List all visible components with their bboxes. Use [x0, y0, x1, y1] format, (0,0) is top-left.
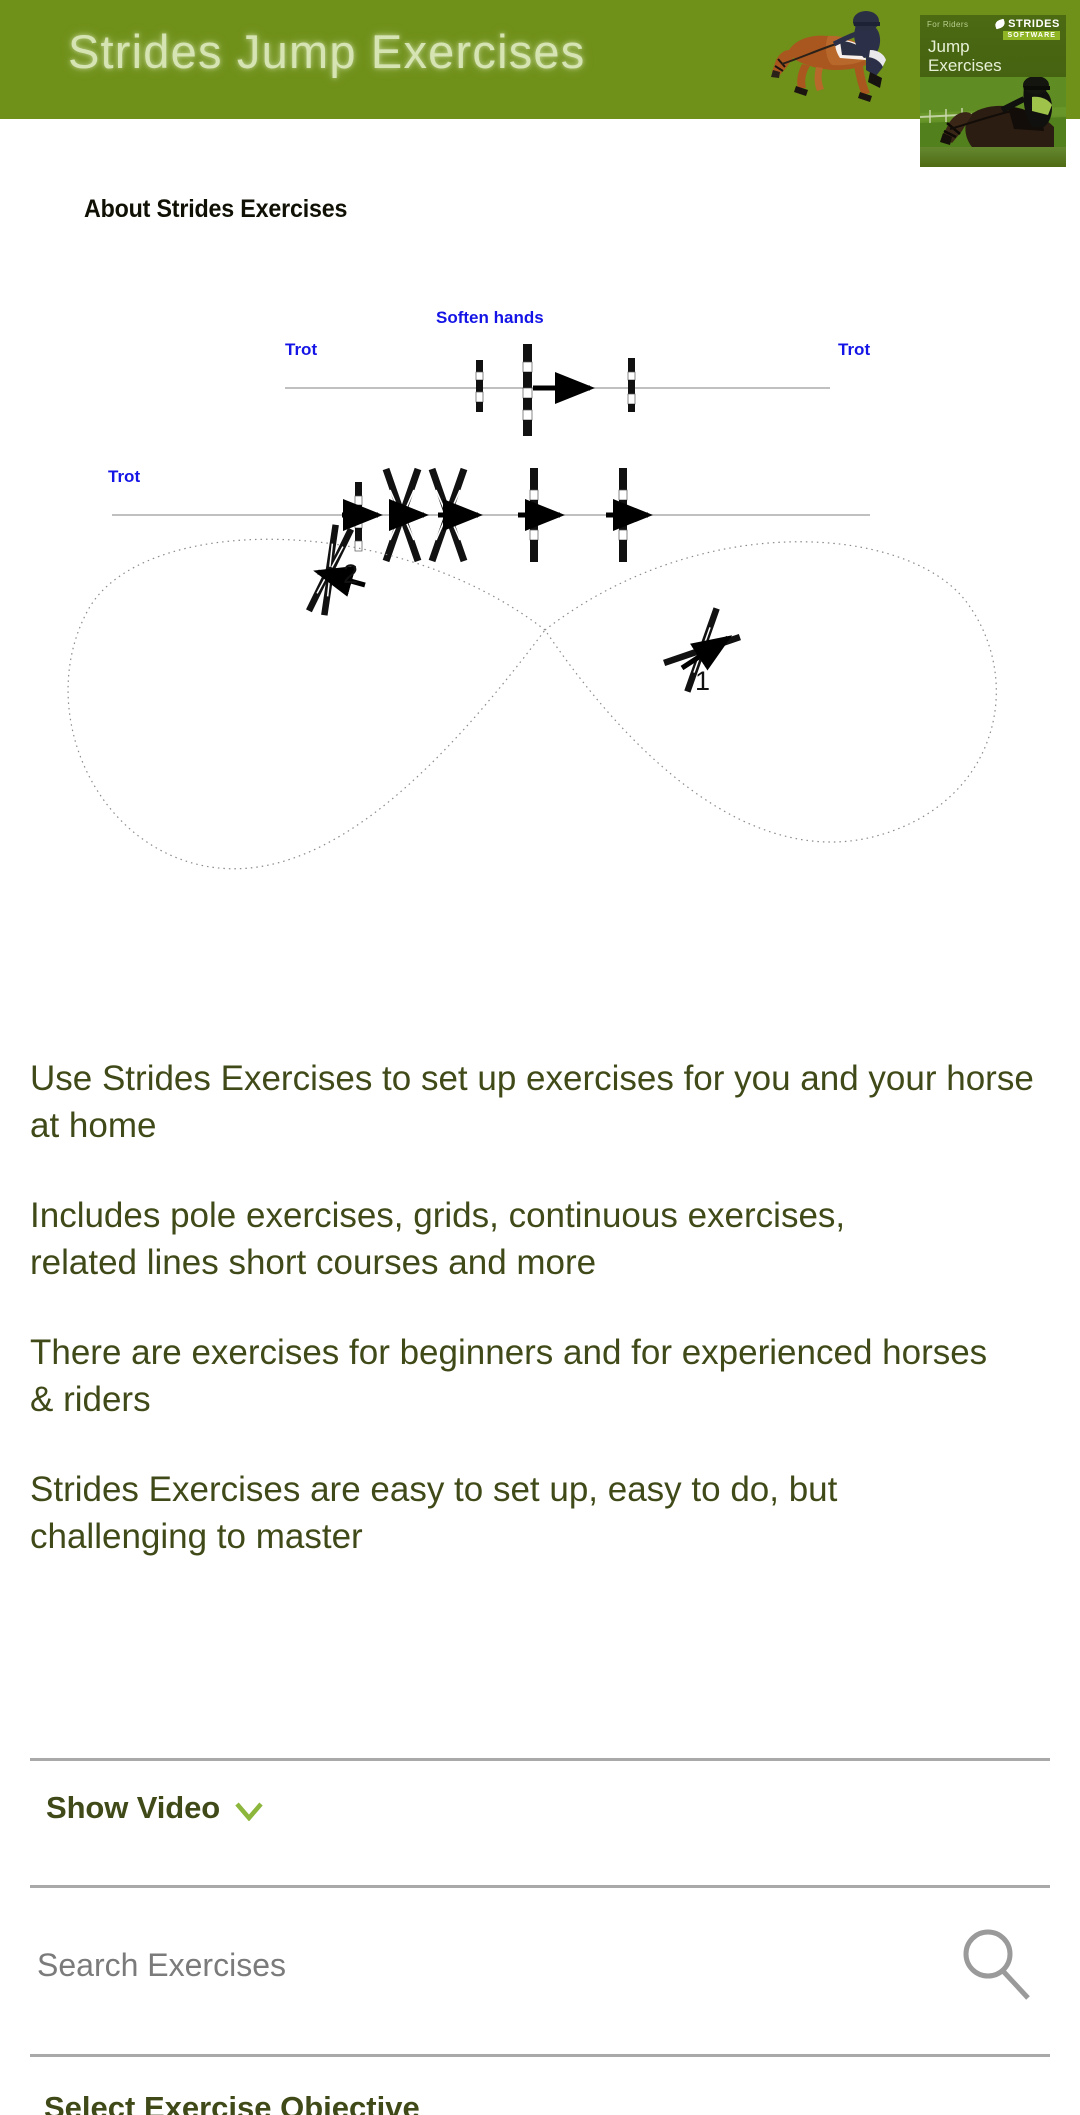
search-icon[interactable] [950, 1920, 1040, 2010]
diagram-row-1: Trot Trot Soften hands [285, 308, 870, 436]
product-box-brand-label: STRIDES [1008, 18, 1060, 30]
divider-below-show-video [30, 1885, 1050, 1888]
row1-pole-3 [628, 358, 635, 412]
row2-trot-label: Trot [108, 467, 140, 486]
product-box-product-name: Jump Exercises [928, 37, 1002, 75]
row1-pole-2 [523, 344, 532, 436]
body-paragraph-4: Strides Exercises are easy to set up, ea… [30, 1466, 930, 1560]
product-box-name-line1: Jump [928, 37, 1002, 56]
select-exercise-objective-row[interactable]: Select Exercise Objective [44, 2092, 744, 2115]
diagram-row-3-figure-eight: 2 1 [68, 524, 996, 869]
figure-eight-jump-2-label: 2 [343, 559, 358, 589]
figure-eight-left-loop [68, 539, 545, 868]
product-box-cover[interactable]: For Riders STRIDES SOFTWARE Jump Exercis… [920, 15, 1066, 167]
divider-above-show-video [30, 1758, 1050, 1761]
product-box-reflection [920, 147, 1066, 167]
strides-leaf-icon [994, 19, 1006, 30]
chevron-down-icon [234, 1801, 264, 1821]
figure-eight-jump-1-label: 1 [695, 666, 710, 696]
row1-pole-1 [476, 360, 483, 412]
horse-and-rider-jumping-photo [770, 10, 890, 102]
page-title: Strides Jump Exercises [68, 24, 585, 79]
row1-soften-hands-label: Soften hands [436, 308, 544, 327]
body-paragraph-3: There are exercises for beginners and fo… [30, 1329, 990, 1423]
about-strides-exercises-heading: About Strides Exercises [84, 195, 347, 224]
body-paragraph-1: Use Strides Exercises to set up exercise… [30, 1055, 1050, 1149]
rider-on-horse-photo [920, 77, 1066, 147]
divider-below-search [30, 2054, 1050, 2057]
row1-trot-right-label: Trot [838, 340, 870, 359]
row1-trot-left-label: Trot [285, 340, 317, 359]
about-body-copy: Use Strides Exercises to set up exercise… [30, 1055, 1060, 1603]
diagram-row-2: Trot [108, 467, 870, 562]
search-input[interactable] [30, 1947, 810, 1984]
figure-eight-right-loop [545, 542, 996, 842]
show-video-toggle[interactable]: Show Video [46, 1790, 264, 1826]
product-box-brand: STRIDES [995, 18, 1060, 30]
body-paragraph-2: Includes pole exercises, grids, continuo… [30, 1192, 960, 1286]
product-box-name-line2: Exercises [928, 56, 1002, 75]
product-box-software-badge: SOFTWARE [1003, 31, 1060, 40]
search-exercises-row[interactable] [30, 1930, 1050, 2000]
strides-exercises-illustration: Trot Trot Soften hands [0, 300, 1080, 930]
select-exercise-objective-label: Select Exercise Objective [44, 2092, 744, 2115]
product-box-for-riders-label: For Riders [927, 20, 968, 29]
site-header: Strides Jump Exercises [0, 0, 1080, 119]
show-video-label: Show Video [46, 1790, 220, 1826]
